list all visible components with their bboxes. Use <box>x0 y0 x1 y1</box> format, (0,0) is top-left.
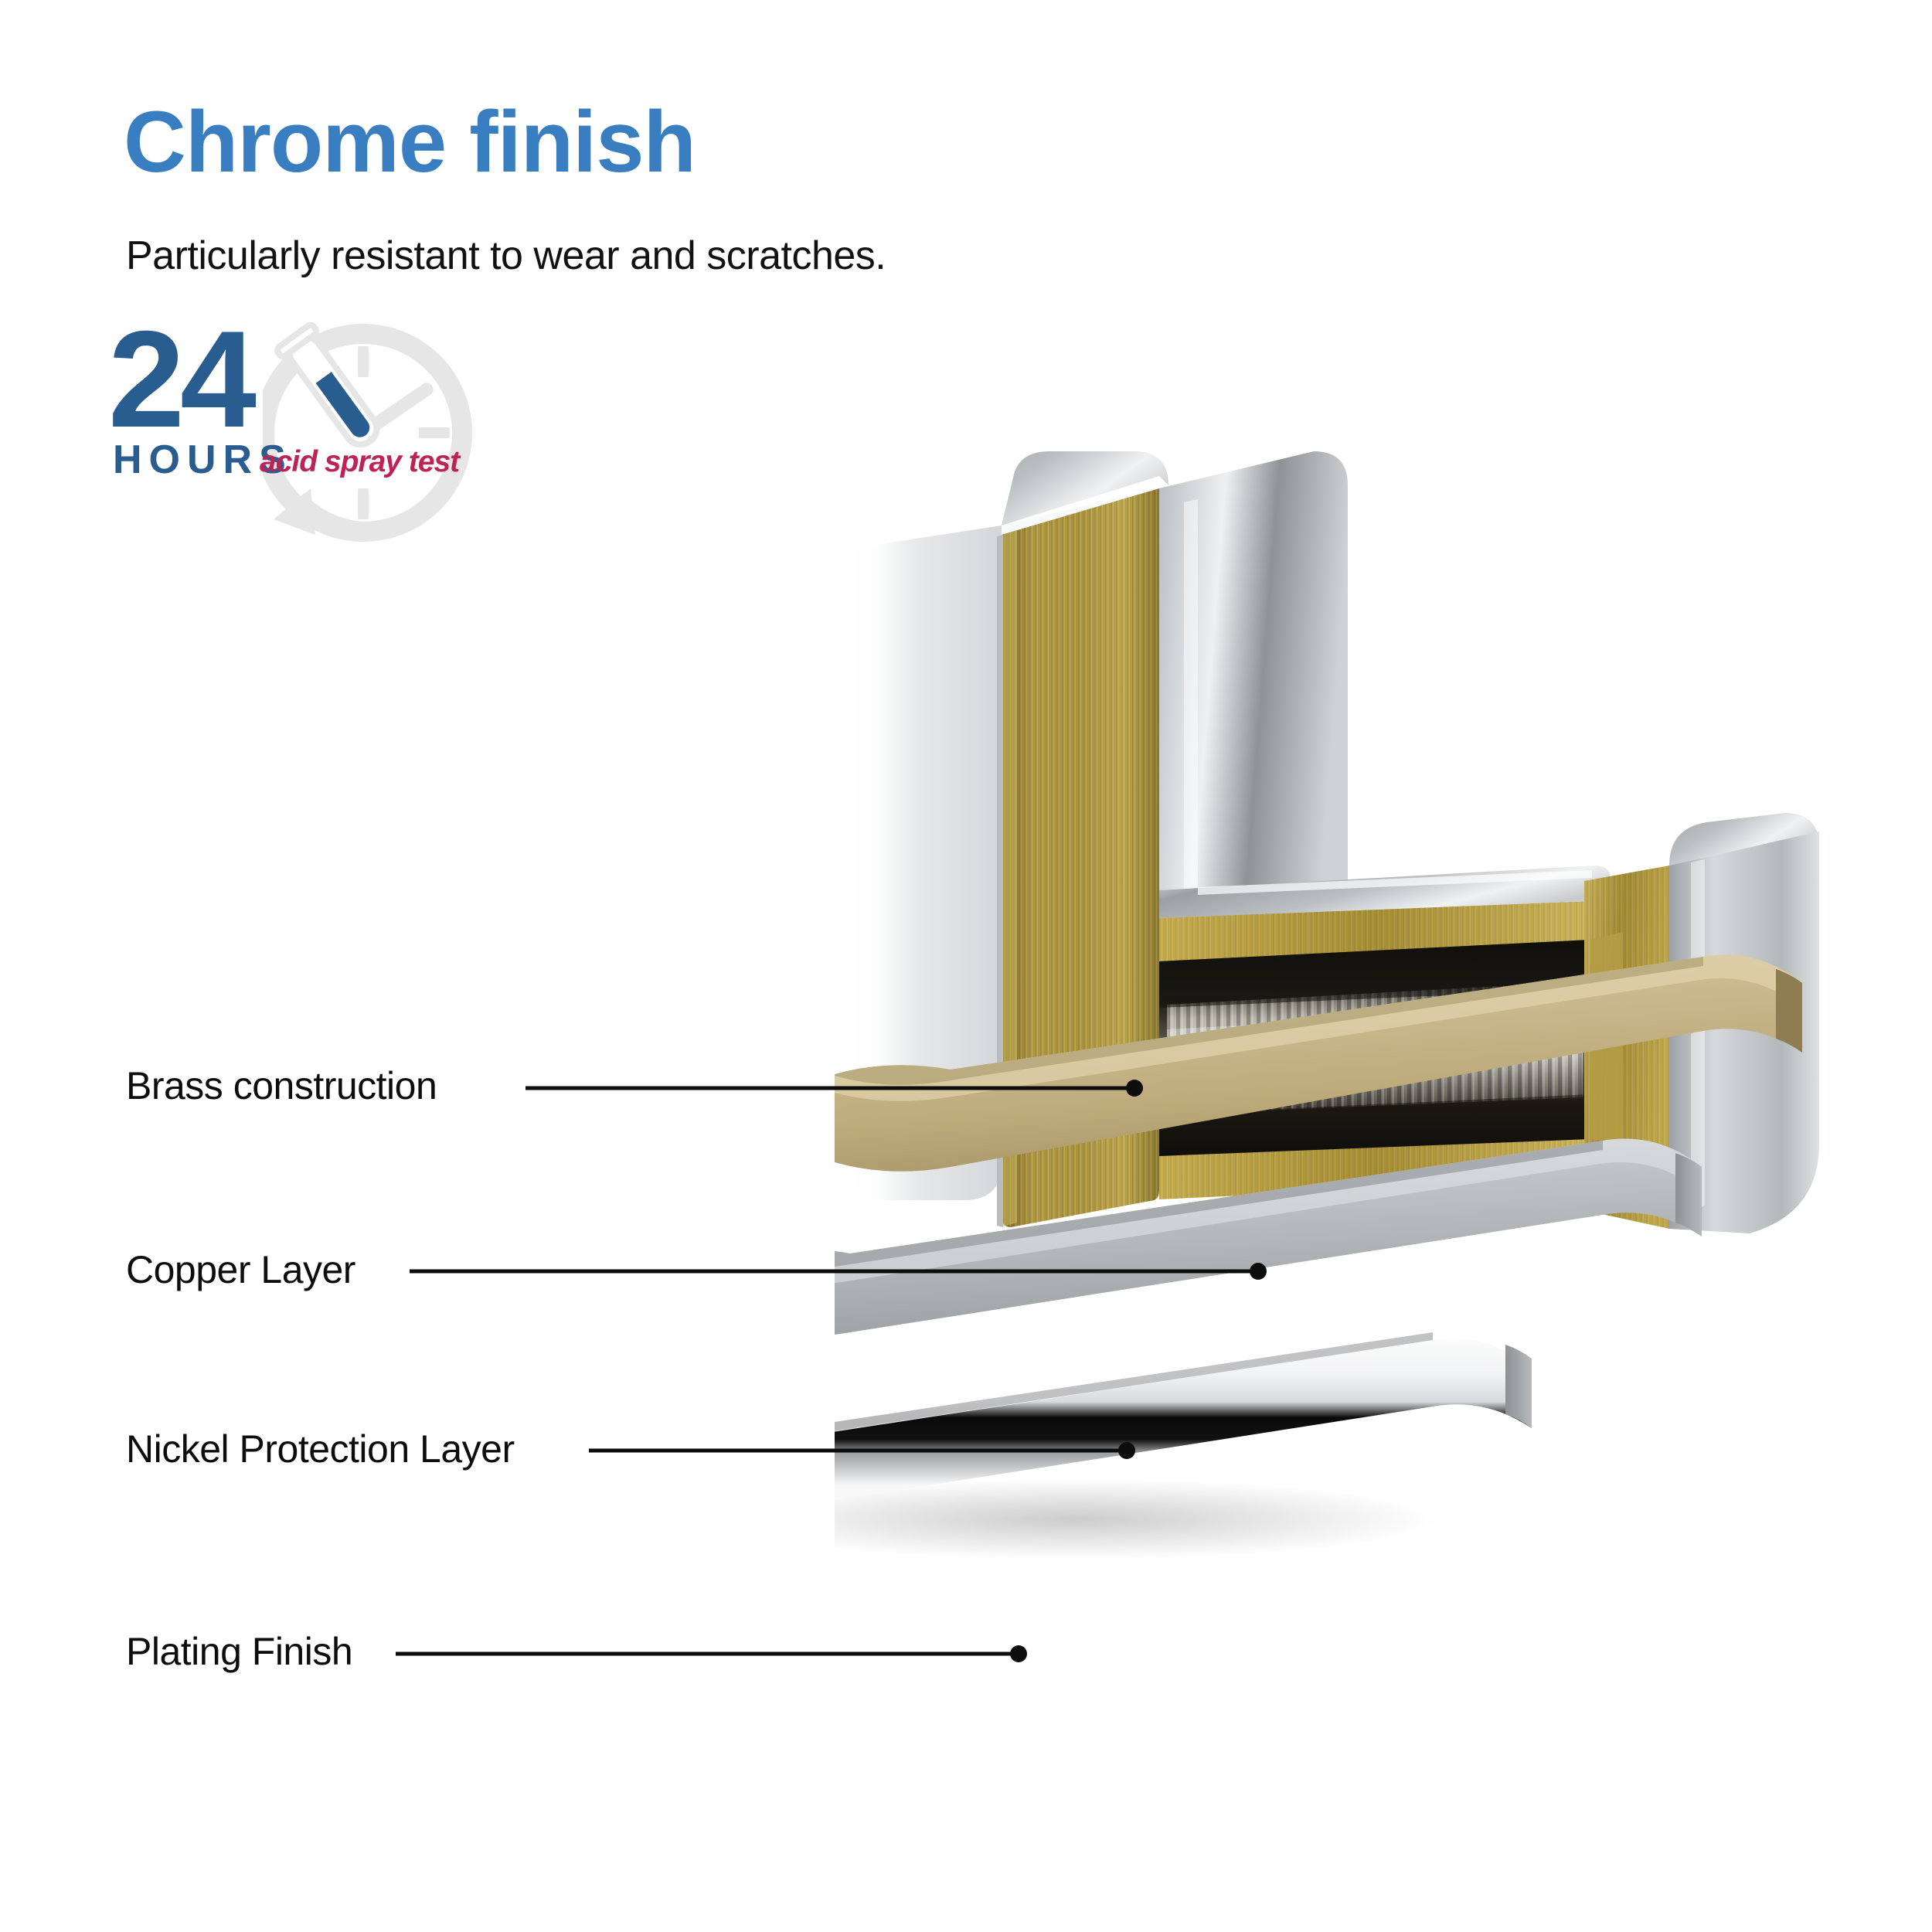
callout-label-brass: Brass construction <box>126 1066 437 1105</box>
callout-label-plating: Plating Finish <box>126 1632 352 1671</box>
callout-label-nickel: Nickel Protection Layer <box>126 1430 515 1468</box>
infographic-page: Chrome finish Particularly resistant to … <box>0 0 1932 1932</box>
badge-number: 24 <box>108 309 257 456</box>
callout-label-copper: Copper Layer <box>126 1250 355 1289</box>
plating-finish-ribbon <box>835 1317 1532 1560</box>
page-title: Chrome finish <box>124 99 696 185</box>
acid-spray-test-caption: acid spray test <box>260 445 461 478</box>
acid-spray-test-badge: 24 HOURS acid spray test <box>108 309 510 564</box>
page-subtitle: Particularly resistant to wear and scrat… <box>126 236 886 276</box>
product-cutaway-illustration <box>835 448 1932 1777</box>
